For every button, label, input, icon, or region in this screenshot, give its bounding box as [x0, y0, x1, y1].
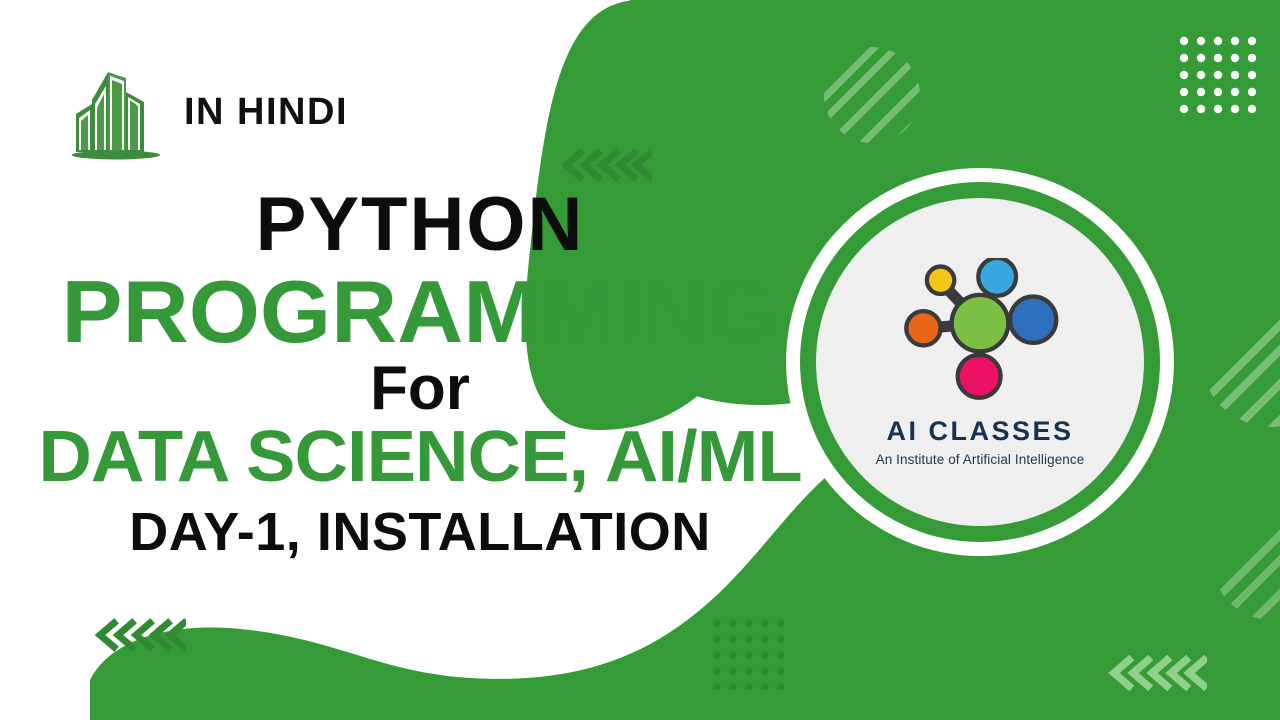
logo-face: AI CLASSES An Institute of Artificial In…	[816, 198, 1144, 526]
ai-classes-logo-badge: AI CLASSES An Institute of Artificial In…	[786, 168, 1174, 556]
molecule-network-icon	[890, 258, 1070, 408]
headline-line-programming: PROGRAMMING	[0, 268, 857, 356]
headline-block: PYTHON PROGRAMMING For DATA SCIENCE, AI/…	[0, 186, 840, 559]
brand-label: IN HINDI	[184, 93, 348, 131]
headline-line-day: DAY-1, INSTALLATION	[0, 505, 840, 559]
thumbnail-canvas: IN HINDI PYTHON PROGRAMMING For DATA SCI…	[0, 0, 1280, 720]
logo-subtitle: An Institute of Artificial Intelligence	[876, 452, 1085, 467]
chevrons-left-top	[556, 145, 652, 185]
logo-title: AI CLASSES	[886, 416, 1073, 447]
buildings-skyline-icon	[70, 64, 162, 160]
headline-line-datascience: DATA SCIENCE, AI/ML	[0, 421, 853, 493]
headline-line-for: For	[0, 356, 840, 421]
headline-line-python: PYTHON	[0, 186, 840, 264]
dot-grid-top-right	[1178, 35, 1258, 115]
chevrons-left-bottom-right	[1103, 652, 1207, 694]
dot-grid-bottom	[712, 618, 784, 690]
brand-row: IN HINDI	[70, 62, 348, 162]
chevrons-left-bottom-left	[90, 615, 186, 655]
